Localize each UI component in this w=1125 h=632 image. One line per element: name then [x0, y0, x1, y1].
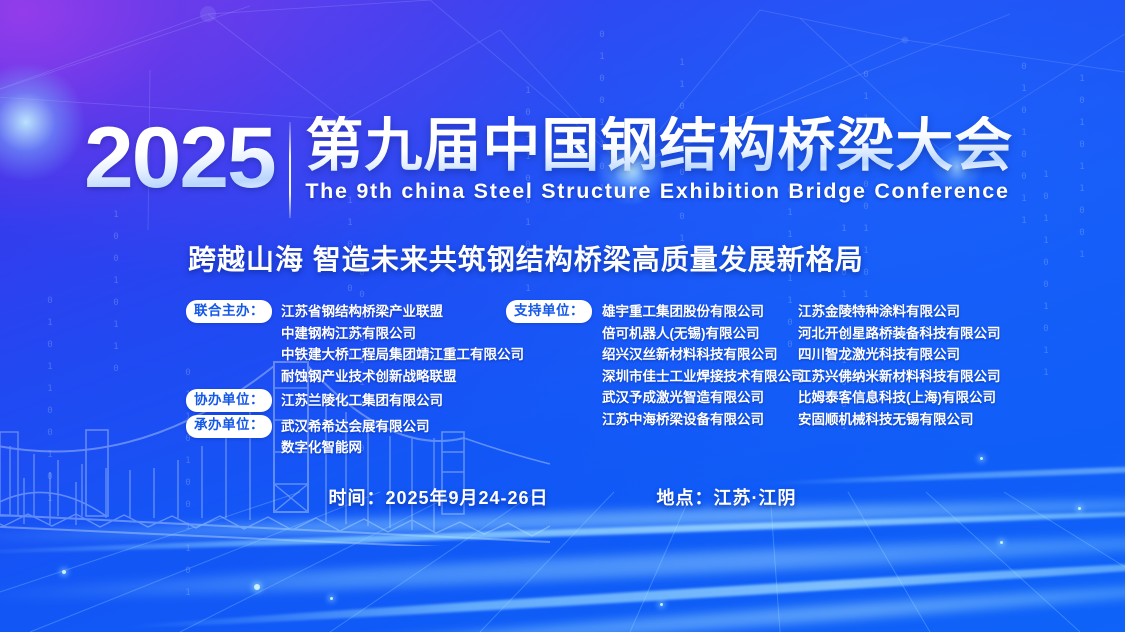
sponsor-name-list: 江苏兰陵化工集团有限公司: [281, 389, 443, 412]
sponsor-group-assisting: 协办单位： 江苏兰陵化工集团有限公司: [186, 389, 516, 412]
sponsor-name-list: 江苏省钢结构桥梁产业联盟 中建钢构江苏有限公司 中铁建大桥工程局集团靖江重工有限…: [281, 300, 524, 387]
sponsor-column-middle: 支持单位： 雄宇重工集团股份有限公司 倍可机器人(无锡)有限公司 绍兴汉丝新材料…: [506, 300, 806, 432]
sponsor-label-pill: 联合主办：: [186, 300, 272, 323]
conference-banner: 0 1 0 1 1 0 0 1 0 1 1 0 0 1 0 1 1 0 0 1 …: [0, 0, 1125, 632]
sponsor-name: 江苏金陵特种涂料有限公司: [798, 301, 1068, 323]
event-place: 地点：江苏·江阴: [657, 484, 797, 510]
sponsor-name: 安固顺机械科技无锡有限公司: [798, 409, 1068, 431]
event-time: 时间：2025年9月24-26日: [328, 484, 548, 510]
tagline: 跨越山海 智造未来共筑钢结构桥梁高质量发展新格局: [188, 238, 864, 278]
sponsor-group-co-organizers: 联合主办： 江苏省钢结构桥梁产业联盟 中建钢构江苏有限公司 中铁建大桥工程局集团…: [186, 300, 516, 387]
sponsor-name-list: 武汉希希达会展有限公司 数字化智能网: [281, 415, 430, 459]
sponsor-name: 耐蚀钢产业技术创新战略联盟: [281, 366, 524, 388]
sponsor-label-pill: 协办单位：: [186, 389, 272, 412]
sponsor-name: 深圳市佳士工业焊接技术有限公司: [602, 366, 805, 388]
sponsor-name: 河北开创星路桥装备科技有限公司: [798, 323, 1068, 345]
sponsor-name: 绍兴汉丝新材料科技有限公司: [602, 344, 805, 366]
sponsor-column-left: 联合主办： 江苏省钢结构桥梁产业联盟 中建钢构江苏有限公司 中铁建大桥工程局集团…: [186, 300, 516, 461]
sponsor-name: 中建钢构江苏有限公司: [281, 323, 524, 345]
page-title: 第九届中国钢结构桥梁大会: [305, 116, 1013, 175]
event-footer: 时间：2025年9月24-26日 地点：江苏·江阴: [0, 484, 1125, 510]
year-2025: 2025: [84, 116, 275, 200]
title-divider: [289, 122, 291, 218]
sponsor-label-pill: 承办单位：: [186, 415, 272, 438]
sponsor-name: 武汉予成激光智造有限公司: [602, 387, 805, 409]
sponsor-name: 倍可机器人(无锡)有限公司: [602, 323, 805, 345]
sponsor-group-host: 承办单位： 武汉希希达会展有限公司 数字化智能网: [186, 415, 516, 459]
sponsor-name: 雄宇重工集团股份有限公司: [602, 301, 805, 323]
sponsor-name: 武汉希希达会展有限公司: [281, 416, 430, 438]
sponsor-name: 中铁建大桥工程局集团靖江重工有限公司: [281, 344, 524, 366]
sponsor-group-supporters: 支持单位： 雄宇重工集团股份有限公司 倍可机器人(无锡)有限公司 绍兴汉丝新材料…: [506, 300, 806, 430]
sponsor-name: 江苏兴佛纳米新材料科技有限公司: [798, 366, 1068, 388]
title-row: 2025 第九届中国钢结构桥梁大会 The 9th china Steel St…: [84, 116, 1013, 218]
banner-content: 2025 第九届中国钢结构桥梁大会 The 9th china Steel St…: [0, 0, 1125, 632]
sponsor-name: 江苏中海桥梁设备有限公司: [602, 409, 805, 431]
sponsor-name: 比姆泰客信息科技(上海)有限公司: [798, 387, 1068, 409]
sponsor-name: 江苏省钢结构桥梁产业联盟: [281, 301, 524, 323]
sponsor-label-pill: 支持单位：: [506, 300, 592, 323]
page-subtitle-en: The 9th china Steel Structure Exhibition…: [305, 179, 1013, 204]
sponsor-name: 江苏兰陵化工集团有限公司: [281, 390, 443, 412]
sponsor-name-list: 江苏金陵特种涂料有限公司 河北开创星路桥装备科技有限公司 四川智龙激光科技有限公…: [798, 300, 1068, 430]
sponsor-name: 数字化智能网: [281, 437, 430, 459]
sponsor-column-right: 江苏金陵特种涂料有限公司 河北开创星路桥装备科技有限公司 四川智龙激光科技有限公…: [798, 300, 1068, 430]
title-block: 第九届中国钢结构桥梁大会 The 9th china Steel Structu…: [305, 116, 1013, 204]
sponsor-name: 四川智龙激光科技有限公司: [798, 344, 1068, 366]
sponsor-name-list: 雄宇重工集团股份有限公司 倍可机器人(无锡)有限公司 绍兴汉丝新材料科技有限公司…: [602, 300, 805, 430]
